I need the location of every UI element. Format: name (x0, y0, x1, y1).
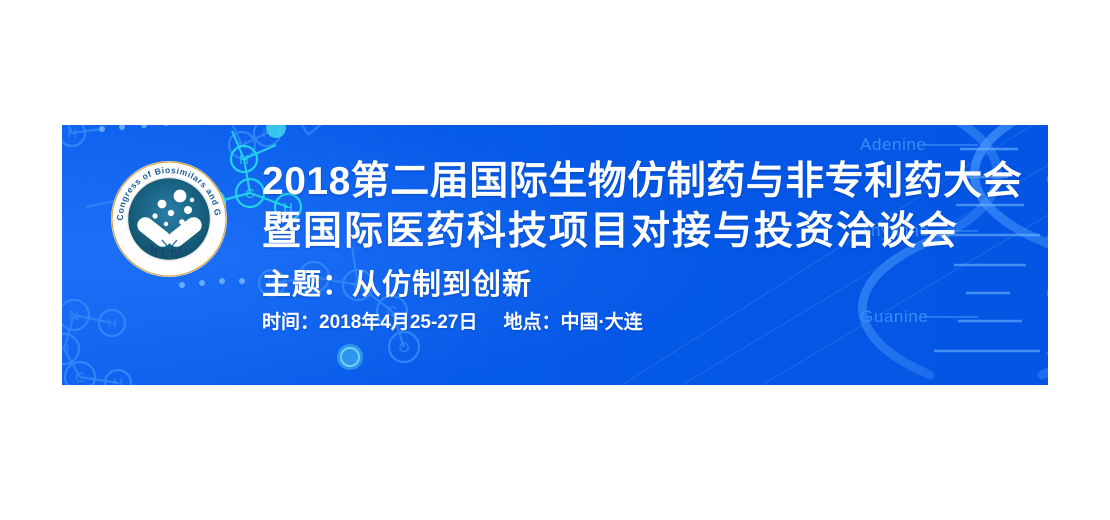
svg-text:A C: A C (1046, 125, 1048, 128)
dna-label-adenine: Adenine (860, 135, 927, 155)
theme-label: 主题： (262, 269, 352, 301)
svg-text:H: H (239, 152, 248, 167)
banner-title-line-1: 2018第二届国际生物仿制药与非专利药大会 (262, 157, 1048, 207)
banner-copy: 2018第二届国际生物仿制药与非专利药大会 暨国际医药科技项目对接与投资洽谈会 … (262, 157, 1048, 337)
svg-text:C: C (245, 186, 254, 201)
banner-title-line-2: 暨国际医药科技项目对接与投资洽谈会 (262, 207, 1048, 257)
banner-page: H N C O (0, 0, 1110, 520)
banner-meta: 时间：2018年4月25-27日地点：中国·大连 (262, 309, 1048, 337)
date-value: 2018年4月25-27日 (319, 312, 477, 333)
theme-value: 从仿制到创新 (352, 269, 532, 301)
date-label: 时间： (262, 312, 319, 333)
venue-value: 中国·大连 (560, 312, 642, 333)
conference-banner: H N C O (62, 125, 1048, 385)
wcbg-logo: World Congress of Biosimilars and Generi… (110, 160, 228, 278)
banner-theme: 主题：从仿制到创新 (262, 263, 1048, 307)
svg-text:A C: A C (1046, 346, 1048, 358)
venue-label: 地点： (503, 312, 560, 333)
